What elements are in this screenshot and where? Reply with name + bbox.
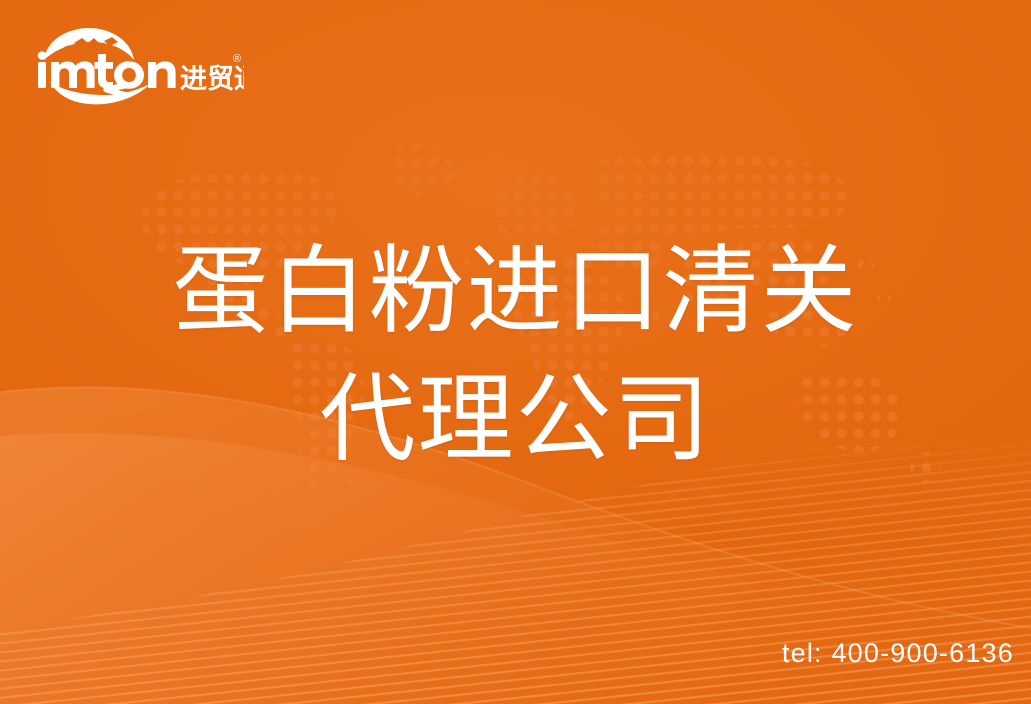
- brand-logo[interactable]: 进贸通 ®: [34, 26, 244, 106]
- headline-line-2: 代理公司: [0, 356, 1031, 484]
- headline-line-1: 蛋白粉进口清关: [0, 228, 1031, 356]
- promo-banner: 进贸通 ® 蛋白粉进口清关 代理公司 tel: 400-900-6136: [0, 0, 1031, 704]
- registered-mark: ®: [233, 53, 241, 65]
- contact-phone[interactable]: tel: 400-900-6136: [782, 638, 1014, 669]
- logo-chinese-name: 进贸通: [180, 64, 244, 95]
- page-title: 蛋白粉进口清关 代理公司: [0, 228, 1031, 484]
- globe-arc-icon: [44, 28, 134, 60]
- logo-wordmark: [38, 51, 176, 89]
